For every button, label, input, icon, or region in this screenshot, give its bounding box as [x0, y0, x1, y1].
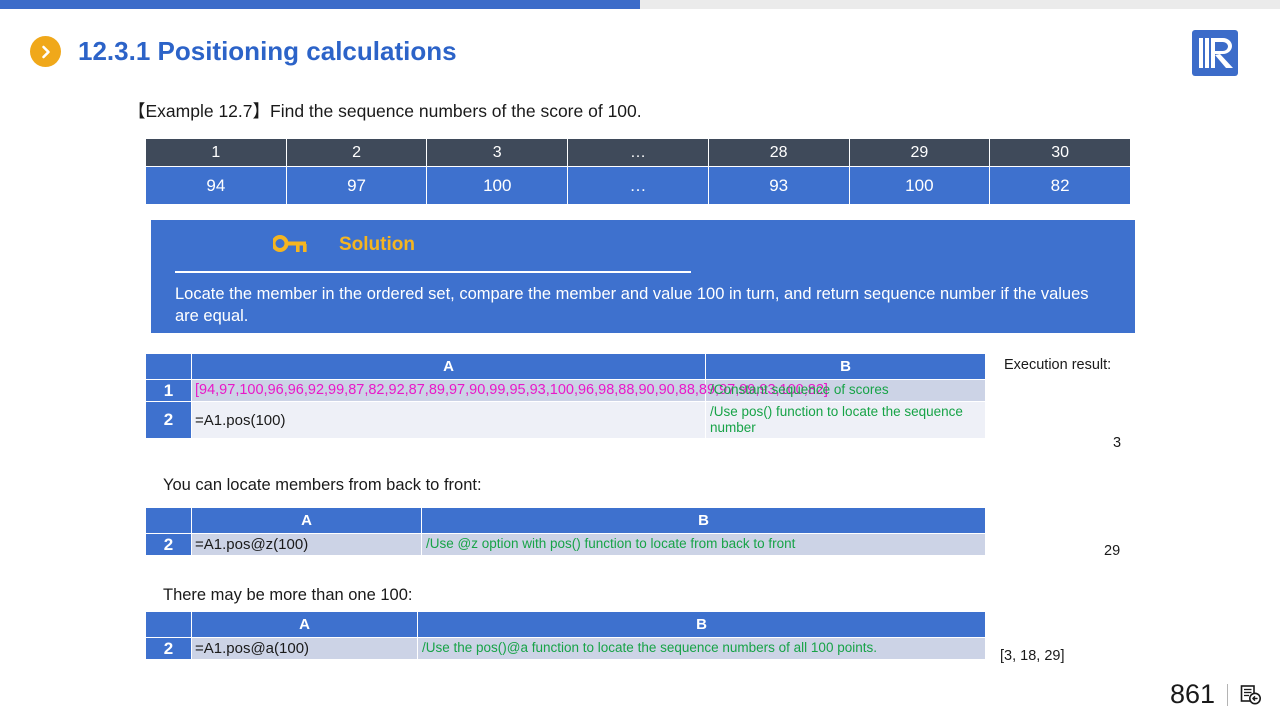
row-index-cell: 2 [146, 638, 192, 660]
cell-b-comment: /Constant sequence of scores [706, 380, 986, 402]
cell-a-value: =A1.pos@z(100) [192, 534, 422, 556]
scores-value-cell: 94 [146, 167, 287, 205]
column-b-header: B [706, 354, 986, 380]
example-statement: 【Example 12.7】Find the sequence numbers … [128, 98, 642, 123]
code-table-2: A B 2 =A1.pos@z(100) /Use @z option with… [145, 507, 986, 556]
scores-header-cell: 30 [990, 139, 1131, 167]
scores-header-cell: 1 [146, 139, 287, 167]
scores-value-cell: 100 [427, 167, 568, 205]
code-table-1: A B 1 [94,97,100,96,96,92,99,87,82,92,87… [145, 353, 986, 439]
chevron-right-circle-icon [30, 36, 61, 67]
scores-header-cell: 29 [849, 139, 990, 167]
solution-header: Solution [273, 234, 415, 256]
row-index-header [146, 508, 192, 534]
scores-value-cell: 100 [849, 167, 990, 205]
execution-result-3: [3, 18, 29] [1000, 648, 1065, 664]
column-a-header: A [192, 612, 418, 638]
cell-a-value: =A1.pos(100) [192, 402, 706, 439]
code-table-1-header-row: A B [146, 354, 986, 380]
code-table-2-header-row: A B [146, 508, 986, 534]
column-b-header: B [418, 612, 986, 638]
column-b-header: B [422, 508, 986, 534]
row-index-cell: 2 [146, 534, 192, 556]
scores-header-cell: 2 [286, 139, 427, 167]
scores-table: 1 2 3 … 28 29 30 94 97 100 … 93 100 82 [145, 138, 1131, 205]
scores-header-row: 1 2 3 … 28 29 30 [146, 139, 1131, 167]
table-row: 2 =A1.pos@z(100) /Use @z option with pos… [146, 534, 986, 556]
column-a-header: A [192, 354, 706, 380]
scores-header-cell: … [568, 139, 709, 167]
page-title: 12.3.1 Positioning calculations [78, 36, 457, 67]
scores-value-cell: … [568, 167, 709, 205]
top-progress-accent [0, 0, 640, 9]
solution-panel: Solution Locate the member in the ordere… [151, 220, 1135, 333]
row-index-cell: 1 [146, 380, 192, 402]
cell-a-value: [94,97,100,96,96,92,99,87,82,92,87,89,97… [192, 380, 706, 402]
slide-footer: 861 [1170, 679, 1262, 710]
note-back-to-front: You can locate members from back to fron… [163, 476, 482, 495]
slide-header: 12.3.1 Positioning calculations [30, 36, 457, 67]
scores-value-cell: 97 [286, 167, 427, 205]
execution-result-2: 29 [1104, 543, 1120, 559]
scores-value-row: 94 97 100 … 93 100 82 [146, 167, 1131, 205]
solution-body: Locate the member in the ordered set, co… [175, 283, 1109, 328]
page-number: 861 [1170, 679, 1215, 710]
row-index-cell: 2 [146, 402, 192, 439]
table-row: 1 [94,97,100,96,96,92,99,87,82,92,87,89,… [146, 380, 986, 402]
slide-root: 12.3.1 Positioning calculations 【Example… [0, 0, 1280, 720]
raqsoft-r-logo-icon [1192, 30, 1238, 76]
solution-title: Solution [339, 234, 415, 256]
note-multiple-matches: There may be more than one 100: [163, 586, 412, 605]
column-a-header: A [192, 508, 422, 534]
key-icon [273, 235, 307, 255]
code-table-3: A B 2 =A1.pos@a(100) /Use the pos()@a fu… [145, 611, 986, 660]
row-index-header [146, 612, 192, 638]
document-back-icon[interactable] [1240, 684, 1262, 706]
top-progress-track [0, 0, 1280, 9]
cell-b-comment: /Use pos() function to locate the sequen… [706, 402, 986, 439]
cell-a-value: =A1.pos@a(100) [192, 638, 418, 660]
cell-b-comment: /Use @z option with pos() function to lo… [422, 534, 986, 556]
code-table-3-header-row: A B [146, 612, 986, 638]
scores-value-cell: 82 [990, 167, 1131, 205]
constant-sequence-literal: [94,97,100,96,96,92,99,87,82,92,87,89,97… [195, 382, 703, 399]
table-row: 2 =A1.pos@a(100) /Use the pos()@a functi… [146, 638, 986, 660]
table-row: 2 =A1.pos(100) /Use pos() function to lo… [146, 402, 986, 439]
row-index-header [146, 354, 192, 380]
execution-result-label: Execution result: [1004, 357, 1111, 373]
footer-divider [1227, 684, 1228, 706]
scores-header-cell: 3 [427, 139, 568, 167]
solution-divider [175, 271, 691, 273]
scores-header-cell: 28 [708, 139, 849, 167]
scores-value-cell: 93 [708, 167, 849, 205]
cell-b-comment: /Use the pos()@a function to locate the … [418, 638, 986, 660]
execution-result-1: 3 [1113, 435, 1121, 451]
